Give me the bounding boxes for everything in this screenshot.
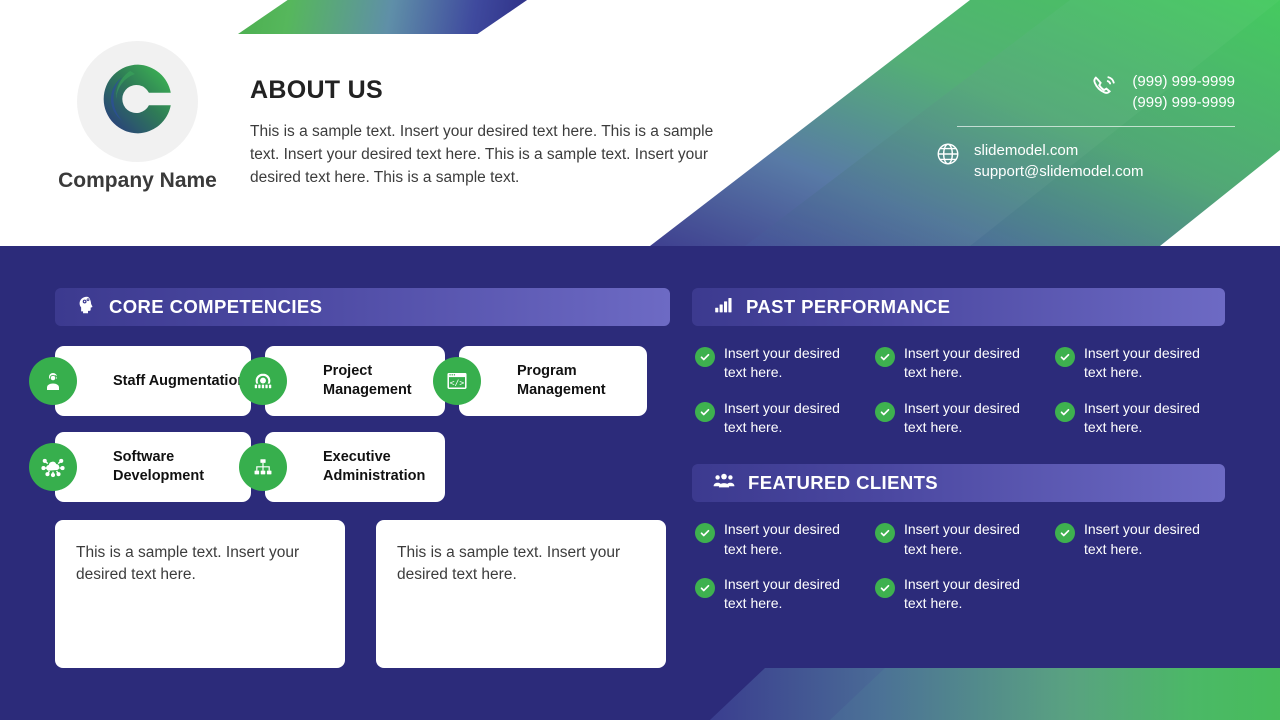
list-item-text: Insert your desired text here.	[904, 399, 1045, 438]
svg-text:</>: </>	[450, 377, 465, 387]
phone-icon	[1089, 72, 1119, 107]
check-icon	[875, 523, 895, 543]
top-ribbon-decoration	[238, 0, 530, 34]
competency-cards: Staff Augmentation	[55, 346, 670, 502]
core-competencies-title: CORE COMPETENCIES	[109, 296, 322, 318]
list-item[interactable]: Insert your desired text here.	[695, 520, 865, 559]
website-link[interactable]: slidemodel.com	[974, 141, 1143, 162]
list-item-text: Insert your desired text here.	[904, 520, 1045, 559]
featured-clients-block: FEATURED CLIENTS Insert your desired tex…	[692, 464, 1225, 613]
phone-row: (999) 999-9999 (999) 999-9999	[935, 72, 1235, 113]
list-item-text: Insert your desired text here.	[904, 575, 1045, 614]
competency-label: Program Management	[517, 362, 647, 399]
note-text: This is a sample text. Insert your desir…	[397, 542, 646, 587]
list-item[interactable]: Insert your desired text here.	[875, 575, 1045, 614]
past-performance-title: PAST PERFORMANCE	[746, 296, 950, 318]
competency-card-program-management[interactable]: </> Program Management	[459, 346, 647, 416]
list-item-text: Insert your desired text here.	[724, 575, 865, 614]
note-text: This is a sample text. Insert your desir…	[76, 542, 325, 587]
competency-row-1: Staff Augmentation	[55, 346, 670, 416]
list-item-text: Insert your desired text here.	[724, 344, 865, 383]
globe-icon	[935, 141, 961, 172]
phone-number-2: (999) 999-9999	[1132, 93, 1235, 114]
bottom-ribbon-decoration	[655, 660, 1280, 720]
web-row: slidemodel.com support@slidemodel.com	[935, 141, 1235, 182]
gear-team-icon	[239, 357, 287, 405]
featured-clients-title: FEATURED CLIENTS	[748, 472, 938, 494]
head-gears-icon	[75, 294, 97, 321]
person-badge-icon	[29, 357, 77, 405]
right-panel: PAST PERFORMANCE Insert your desired tex…	[692, 288, 1225, 614]
list-item[interactable]: Insert your desired text here.	[875, 399, 1045, 438]
contact-divider	[957, 126, 1235, 127]
list-item[interactable]: Insert your desired text here.	[875, 520, 1045, 559]
check-icon	[695, 402, 715, 422]
about-us-title: ABOUT US	[250, 76, 750, 105]
check-icon	[695, 347, 715, 367]
org-chart-icon	[239, 443, 287, 491]
featured-clients-list: Insert your desired text here. Insert yo…	[692, 520, 1225, 613]
competency-card-staff-augmentation[interactable]: Staff Augmentation	[55, 346, 251, 416]
past-performance-header: PAST PERFORMANCE	[692, 288, 1225, 326]
body-area: CORE COMPETENCIES Staff Augmentation	[0, 246, 1280, 720]
phone-number-1: (999) 999-9999	[1132, 72, 1235, 93]
note-box[interactable]: This is a sample text. Insert your desir…	[376, 520, 666, 668]
featured-clients-header: FEATURED CLIENTS	[692, 464, 1225, 502]
competency-label: Project Management	[323, 362, 445, 399]
competency-label: Staff Augmentation	[113, 372, 246, 391]
check-icon	[875, 402, 895, 422]
check-icon	[695, 523, 715, 543]
list-item-text: Insert your desired text here.	[904, 344, 1045, 383]
check-icon	[1055, 402, 1075, 422]
list-item[interactable]: Insert your desired text here.	[695, 344, 865, 383]
note-boxes: This is a sample text. Insert your desir…	[55, 520, 670, 668]
email-link[interactable]: support@slidemodel.com	[974, 162, 1143, 183]
competency-label: Software Development	[113, 448, 251, 485]
list-item[interactable]: Insert your desired text here.	[1055, 344, 1225, 383]
competency-card-executive-administration[interactable]: Executive Administration	[265, 432, 445, 502]
about-us-block: ABOUT US This is a sample text. Insert y…	[250, 76, 750, 190]
code-window-icon: </>	[433, 357, 481, 405]
check-icon	[875, 347, 895, 367]
list-item-text: Insert your desired text here.	[724, 399, 865, 438]
check-icon	[1055, 347, 1075, 367]
past-performance-list: Insert your desired text here. Insert yo…	[692, 344, 1225, 437]
list-item[interactable]: Insert your desired text here.	[1055, 520, 1225, 559]
phone-numbers: (999) 999-9999 (999) 999-9999	[1132, 72, 1235, 113]
contact-block: (999) 999-9999 (999) 999-9999 slidemodel…	[935, 72, 1235, 183]
list-item[interactable]: Insert your desired text here.	[695, 399, 865, 438]
list-item-text: Insert your desired text here.	[724, 520, 865, 559]
note-box[interactable]: This is a sample text. Insert your desir…	[55, 520, 345, 668]
list-item[interactable]: Insert your desired text here.	[1055, 399, 1225, 438]
core-competencies-panel: CORE COMPETENCIES Staff Augmentation	[55, 288, 670, 668]
competency-row-2: Software Development Executive Administr…	[55, 432, 670, 502]
company-name: Company Name	[40, 168, 235, 194]
check-icon	[695, 578, 715, 598]
competency-card-project-management[interactable]: Project Management	[265, 346, 445, 416]
list-item-text: Insert your desired text here.	[1084, 399, 1225, 438]
list-item[interactable]: Insert your desired text here.	[695, 575, 865, 614]
check-icon	[1055, 523, 1075, 543]
core-competencies-header: CORE COMPETENCIES	[55, 288, 670, 326]
cloud-network-icon	[29, 443, 77, 491]
list-item-text: Insert your desired text here.	[1084, 520, 1225, 559]
check-icon	[875, 578, 895, 598]
bar-chart-icon	[712, 294, 734, 321]
competency-label: Executive Administration	[323, 448, 445, 485]
header: Company Name ABOUT US This is a sample t…	[0, 0, 1280, 246]
about-us-text: This is a sample text. Insert your desir…	[250, 121, 738, 190]
web-details: slidemodel.com support@slidemodel.com	[974, 141, 1143, 182]
company-logo	[77, 41, 198, 162]
list-item[interactable]: Insert your desired text here.	[875, 344, 1045, 383]
list-item-text: Insert your desired text here.	[1084, 344, 1225, 383]
competency-card-software-development[interactable]: Software Development	[55, 432, 251, 502]
people-group-icon	[712, 469, 736, 498]
company-c-logo-icon	[99, 60, 177, 143]
